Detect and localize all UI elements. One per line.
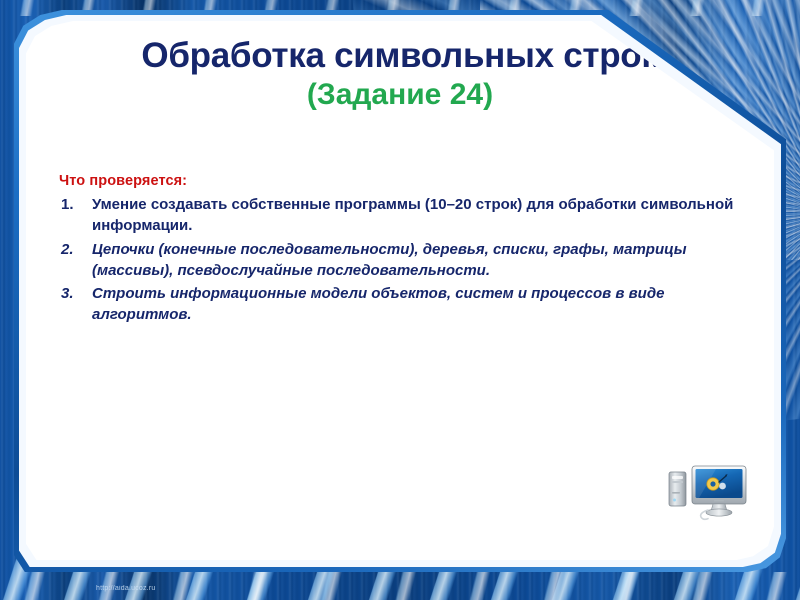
- slide: Обработка символьных строк (Задание 24) …: [0, 0, 800, 600]
- list-item-number: 3.: [61, 283, 74, 304]
- content-body: Что проверяется: 1. Умение создавать соб…: [59, 173, 734, 328]
- list-item-text: Умение создавать собственные программы (…: [92, 196, 733, 234]
- list-item-number: 2.: [61, 239, 74, 260]
- watermark: http://aida.ucoz.ru: [96, 585, 155, 592]
- list-item: 2. Цепочки (конечные последовательности)…: [59, 239, 734, 282]
- section-heading: Что проверяется:: [59, 173, 734, 189]
- checklist: 1. Умение создавать собственные программ…: [59, 194, 734, 326]
- desktop-computer-icon: [666, 460, 750, 522]
- list-item-text: Строить информационные модели объектов, …: [92, 285, 664, 323]
- list-item-number: 1.: [61, 194, 74, 215]
- list-item: 3. Строить информационные модели объекто…: [59, 283, 734, 326]
- content-panel: Обработка символьных строк (Задание 24) …: [26, 21, 774, 560]
- list-item-text: Цепочки (конечные последовательности), д…: [92, 241, 687, 279]
- page-subtitle: (Задание 24): [26, 79, 774, 111]
- list-item: 1. Умение создавать собственные программ…: [59, 194, 734, 237]
